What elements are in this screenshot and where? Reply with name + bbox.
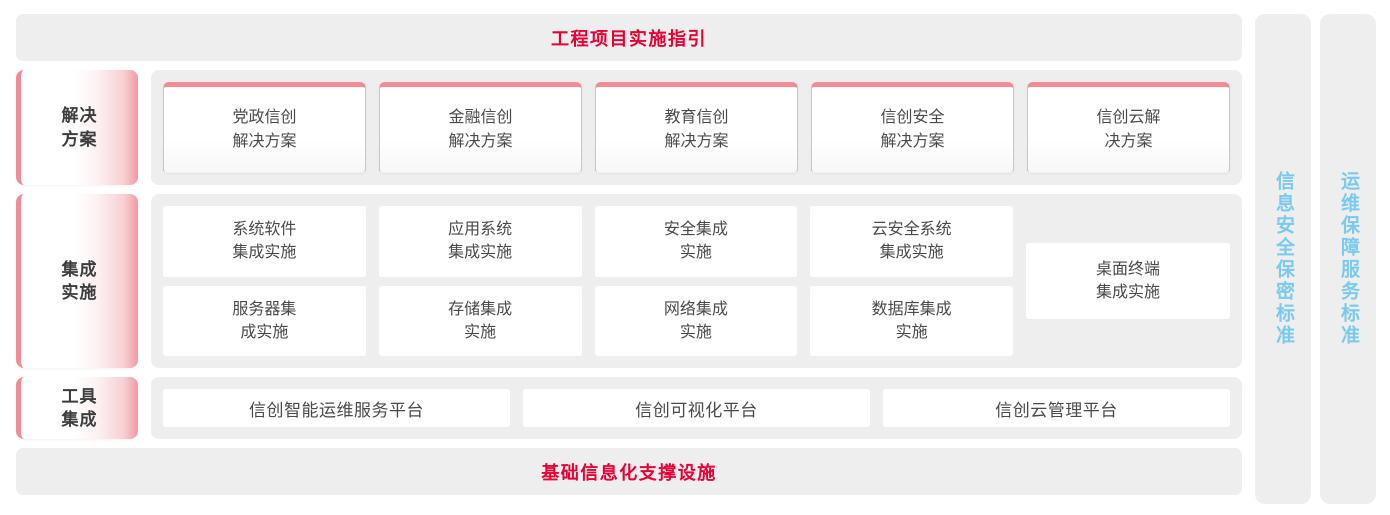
row-label-solutions-line2: 方案 — [62, 130, 98, 149]
panel-tools: 信创智能运维服务平台 信创可视化平台 信创云管理平台 — [151, 377, 1242, 439]
rail-ops-service-standard-text: 运维保障服务标准 — [1334, 171, 1362, 347]
integration-grid: 系统软件 集成实施 应用系统 集成实施 安全集成 实施 — [163, 206, 1013, 356]
row-label-tools-text: 工具 集成 — [62, 385, 98, 432]
integration-card-line2: 集成实施 — [448, 244, 512, 261]
integration-card-line2: 集成实施 — [232, 244, 296, 261]
integration-card[interactable]: 安全集成 实施 — [595, 206, 798, 277]
row-label-solutions: 解决 方案 — [16, 70, 138, 185]
main-column: 工程项目实施指引 解决 方案 党政信创 解决方案 — [16, 14, 1242, 504]
integration-card[interactable]: 服务器集 成实施 — [163, 286, 366, 357]
tool-card[interactable]: 信创智能运维服务平台 — [163, 389, 510, 427]
integration-card-line2: 实施 — [896, 324, 928, 341]
solution-card[interactable]: 信创安全 解决方案 — [811, 82, 1014, 173]
integration-card-desktop-terminal[interactable]: 桌面终端 集成实施 — [1026, 243, 1230, 319]
solution-card-line2: 解决方案 — [232, 133, 296, 150]
integration-card-desktop-terminal-line2: 集成实施 — [1096, 284, 1160, 301]
integration-card-line2: 集成实施 — [880, 244, 944, 261]
footer-title: 基础信息化支撑设施 — [541, 459, 717, 485]
integration-card-text: 安全集成 实施 — [664, 218, 728, 264]
integration-card-line2: 成实施 — [240, 324, 288, 341]
integration-card-text: 应用系统 集成实施 — [448, 218, 512, 264]
integration-card[interactable]: 存储集成 实施 — [379, 286, 582, 357]
row-label-solutions-line1: 解决 — [62, 106, 98, 125]
solution-card-line1: 党政信创 — [232, 109, 296, 126]
integration-card-line2: 实施 — [680, 324, 712, 341]
diagram-root: 工程项目实施指引 解决 方案 党政信创 解决方案 — [0, 0, 1390, 515]
integration-card-text: 服务器集 成实施 — [232, 298, 296, 344]
row-label-integration-line1: 集成 — [62, 260, 98, 279]
solution-card-text: 党政信创 解决方案 — [232, 106, 296, 152]
solution-card[interactable]: 教育信创 解决方案 — [595, 82, 798, 173]
rail-ops-service-standard: 运维保障服务标准 — [1320, 14, 1376, 504]
integration-card-text: 数据库集成 实施 — [872, 298, 952, 344]
panel-solutions: 党政信创 解决方案 金融信创 解决方案 教育信创 解决方案 — [151, 70, 1242, 185]
solution-card-text: 信创云解 决方案 — [1096, 106, 1160, 152]
integration-card-line1: 网络集成 — [664, 301, 728, 318]
solution-card-line1: 金融信创 — [448, 109, 512, 126]
solution-card-line1: 信创云解 — [1096, 109, 1160, 126]
tool-card[interactable]: 信创云管理平台 — [883, 389, 1230, 427]
solution-card-line2: 解决方案 — [880, 133, 944, 150]
tool-card[interactable]: 信创可视化平台 — [523, 389, 870, 427]
integration-card-line1: 安全集成 — [664, 221, 728, 238]
row-integration: 集成 实施 系统软件 集成实施 应用系统 集成实施 — [16, 194, 1242, 368]
integration-card-desktop-terminal-text: 桌面终端 集成实施 — [1096, 258, 1160, 304]
integration-card-text: 云安全系统 集成实施 — [872, 218, 952, 264]
integration-card-line1: 云安全系统 — [872, 221, 952, 238]
row-label-tools-line1: 工具 — [62, 387, 98, 406]
integration-card-line1: 存储集成 — [448, 301, 512, 318]
integration-card[interactable]: 系统软件 集成实施 — [163, 206, 366, 277]
integration-card-line1: 系统软件 — [232, 221, 296, 238]
integration-card-text: 存储集成 实施 — [448, 298, 512, 344]
page-title: 工程项目实施指引 — [551, 25, 707, 51]
header-banner: 工程项目实施指引 — [16, 14, 1242, 61]
solution-card[interactable]: 信创云解 决方案 — [1027, 82, 1230, 173]
solution-card-line1: 教育信创 — [664, 109, 728, 126]
integration-card-text: 网络集成 实施 — [664, 298, 728, 344]
integration-card-line1: 服务器集 — [232, 301, 296, 318]
integration-card-text: 系统软件 集成实施 — [232, 218, 296, 264]
solution-card-line2: 解决方案 — [448, 133, 512, 150]
integration-card-line2: 实施 — [680, 244, 712, 261]
footer-banner: 基础信息化支撑设施 — [16, 448, 1242, 495]
solution-card-line2: 决方案 — [1104, 133, 1152, 150]
solution-card[interactable]: 金融信创 解决方案 — [379, 82, 582, 173]
solution-card-line1: 信创安全 — [880, 109, 944, 126]
integration-card-line1: 数据库集成 — [872, 301, 952, 318]
solution-card-line2: 解决方案 — [664, 133, 728, 150]
solution-card-text: 教育信创 解决方案 — [664, 106, 728, 152]
rail-information-security-standard: 信息安全保密标准 — [1255, 14, 1311, 504]
row-label-solutions-text: 解决 方案 — [62, 104, 98, 151]
rail-information-security-standard-text: 信息安全保密标准 — [1269, 171, 1297, 347]
integration-card[interactable]: 数据库集成 实施 — [810, 286, 1013, 357]
row-label-integration-text: 集成 实施 — [62, 258, 98, 305]
row-label-integration: 集成 实施 — [16, 194, 138, 368]
solution-card-text: 金融信创 解决方案 — [448, 106, 512, 152]
integration-card-desktop-terminal-line1: 桌面终端 — [1096, 261, 1160, 278]
tool-card-label: 信创云管理平台 — [995, 396, 1118, 421]
tool-card-label: 信创可视化平台 — [635, 396, 758, 421]
solution-card-text: 信创安全 解决方案 — [880, 106, 944, 152]
integration-card[interactable]: 应用系统 集成实施 — [379, 206, 582, 277]
tool-card-label: 信创智能运维服务平台 — [249, 396, 424, 421]
row-label-tools-line2: 集成 — [62, 410, 98, 429]
solution-card[interactable]: 党政信创 解决方案 — [163, 82, 366, 173]
panel-integration: 系统软件 集成实施 应用系统 集成实施 安全集成 实施 — [151, 194, 1242, 368]
row-label-integration-line2: 实施 — [62, 283, 98, 302]
row-label-tools: 工具 集成 — [16, 377, 138, 439]
row-solutions: 解决 方案 党政信创 解决方案 金融信创 解决方案 — [16, 70, 1242, 185]
integration-card-line2: 实施 — [464, 324, 496, 341]
integration-card-line1: 应用系统 — [448, 221, 512, 238]
row-tools: 工具 集成 信创智能运维服务平台 信创可视化平台 信创云管理平台 — [16, 377, 1242, 439]
integration-card[interactable]: 云安全系统 集成实施 — [810, 206, 1013, 277]
integration-card[interactable]: 网络集成 实施 — [595, 286, 798, 357]
